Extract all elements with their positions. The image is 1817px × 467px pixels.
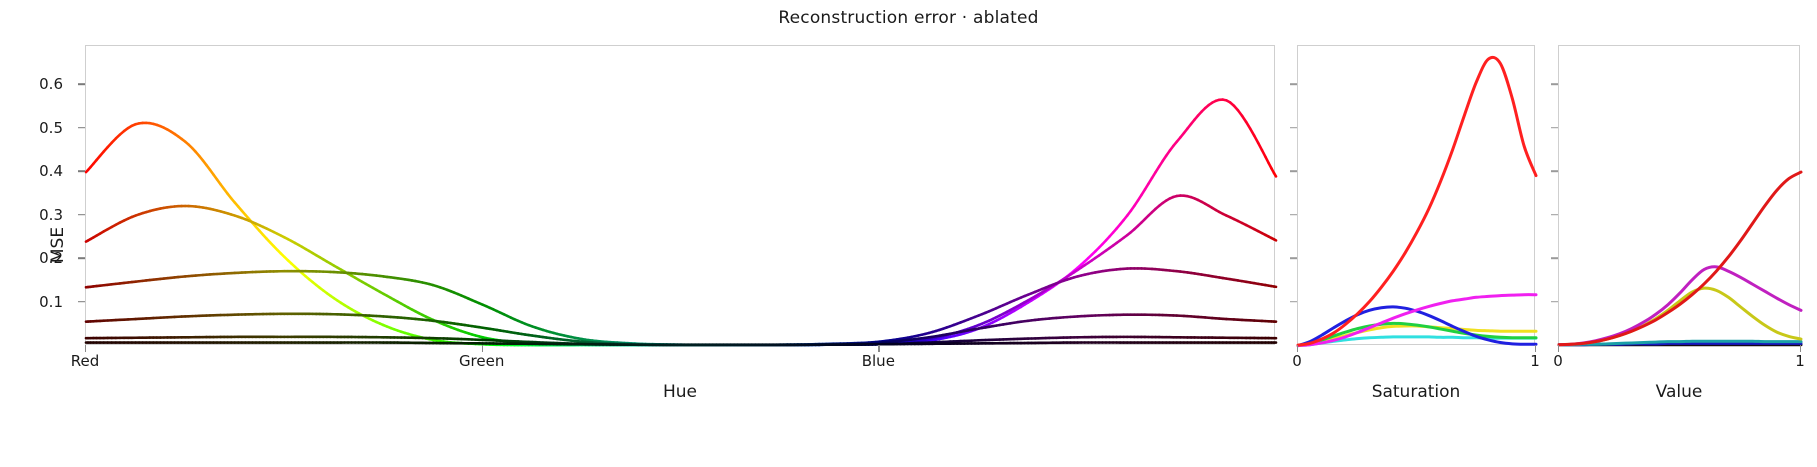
saturation-y-ticks (1280, 45, 1297, 345)
x-tick-mark (1535, 345, 1536, 352)
x-tick-label: Red (71, 352, 100, 370)
value-axis-label: Value (1558, 382, 1800, 402)
y-tick-mark (78, 170, 85, 172)
y-tick-mark (1551, 214, 1558, 216)
x-tick-label: 1 (1795, 352, 1805, 370)
x-tick-mark (1800, 345, 1801, 352)
x-tick-label: Green (459, 352, 504, 370)
x-tick-label: 1 (1530, 352, 1540, 370)
y-tick-mark (1290, 301, 1297, 303)
x-tick-label: Blue (862, 352, 895, 370)
y-tick-mark (1551, 127, 1558, 129)
y-tick-mark (1551, 301, 1558, 303)
y-tick-mark (1551, 83, 1558, 85)
y-tick-mark (78, 127, 85, 129)
y-tick-label: 0.2 (11, 249, 63, 267)
y-tick-label: 0.1 (11, 293, 63, 311)
x-tick-mark (1558, 345, 1559, 352)
figure-root: Reconstruction error · ablated MSE 0.10.… (0, 0, 1817, 467)
y-tick-label: 0.5 (11, 119, 63, 137)
x-tick-mark (482, 345, 483, 352)
y-tick-mark (78, 301, 85, 303)
y-tick-mark (1290, 127, 1297, 129)
y-tick-mark (1290, 257, 1297, 259)
y-tick-label: 0.6 (11, 75, 63, 93)
x-tick-label: 0 (1553, 352, 1563, 370)
y-axis: MSE 0.10.20.30.40.50.6 (0, 45, 85, 345)
y-tick-mark (78, 83, 85, 85)
y-tick-mark (1551, 257, 1558, 259)
x-tick-mark (85, 345, 86, 352)
y-tick-mark (1290, 214, 1297, 216)
value-y-ticks (1541, 45, 1558, 345)
hue-axis-label: Hue (85, 382, 1275, 402)
saturation-axis-label: Saturation (1297, 382, 1535, 402)
y-tick-mark (78, 257, 85, 259)
y-tick-label: 0.3 (11, 206, 63, 224)
y-tick-mark (1290, 170, 1297, 172)
y-tick-label: 0.4 (11, 162, 63, 180)
y-axis-label: MSE (48, 185, 68, 305)
x-tick-mark (878, 345, 879, 352)
x-tick-label: 0 (1292, 352, 1302, 370)
y-tick-mark (1290, 83, 1297, 85)
y-tick-mark (78, 214, 85, 216)
x-tick-mark (1297, 345, 1298, 352)
y-tick-mark (1551, 170, 1558, 172)
